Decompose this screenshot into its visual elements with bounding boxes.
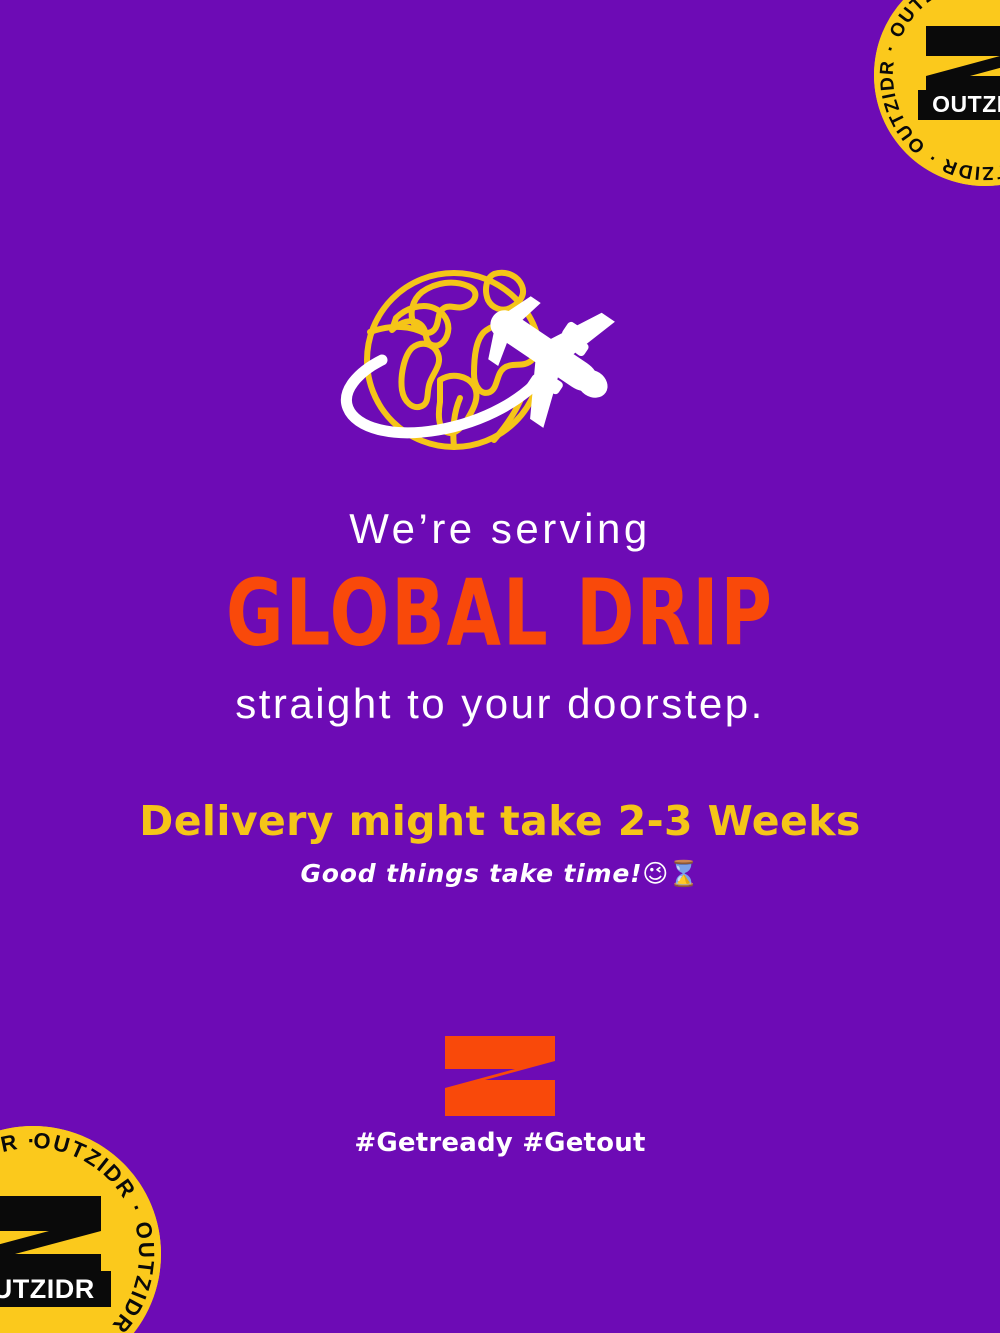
tagline: Good things take time!😉⌛: [0, 860, 1000, 889]
copy-block: We’re serving GLOBAL DRIP straight to yo…: [0, 505, 1000, 889]
footer-lockup: #Getready #Getout: [0, 1036, 1000, 1158]
subheadline-text: straight to your doorstep.: [0, 680, 1000, 727]
page-title: GLOBAL DRIP: [0, 568, 1000, 660]
brand-z-logo: [445, 1036, 555, 1116]
delivery-notice: Delivery might take 2-3 Weeks: [0, 799, 1000, 844]
badge-wordmark-top-right: OUTZIDR: [932, 91, 1000, 117]
globe-icon: [367, 273, 541, 447]
promo-poster: OUTZIDR · OUTZIDR · OUTZIDR · OUTZIDR · …: [0, 0, 1000, 1333]
tagline-emoji: 😉⌛: [642, 859, 699, 888]
eyebrow-text: We’re serving: [0, 505, 1000, 552]
badge-wordmark-bottom-left: OUTZIDR: [0, 1274, 95, 1304]
tagline-text: Good things take time!: [300, 859, 642, 888]
globe-airplane-illustration: [334, 252, 664, 477]
hashtags-text: #Getready #Getout: [0, 1128, 1000, 1158]
brand-badge-top-right: OUTZIDR · OUTZIDR · OUTZIDR · OUTZIDR · …: [874, 0, 1000, 186]
